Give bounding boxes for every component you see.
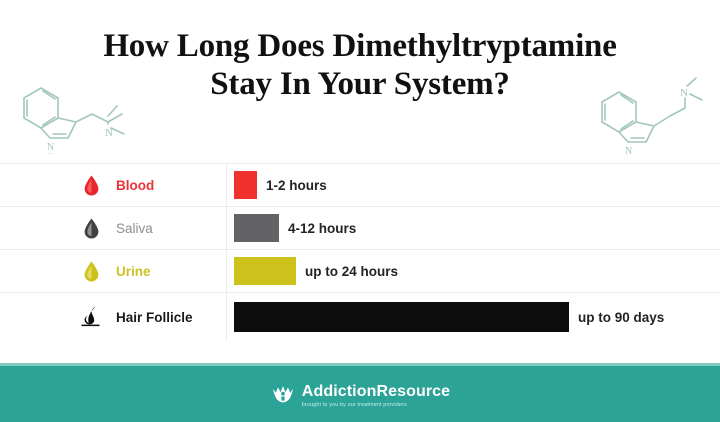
header: N N H How Long Does Dimethyltryptamine S…: [0, 0, 720, 163]
addiction-resource-logo-icon: [270, 382, 296, 411]
column-divider: [226, 250, 227, 292]
duration-bar: [234, 257, 296, 285]
brand-tagline: brought to you by our treatment provider…: [302, 403, 450, 408]
duration-label: up to 90 days: [578, 310, 664, 325]
urine-drop-icon: [78, 261, 104, 282]
column-divider: [226, 293, 227, 341]
row-label-cell: Urine: [0, 261, 226, 282]
row-label-cell: Saliva: [0, 218, 226, 239]
duration-bar: [234, 171, 257, 199]
table-row: Saliva 4-12 hours: [0, 206, 720, 249]
duration-label: up to 24 hours: [305, 264, 398, 279]
duration-label: 4-12 hours: [288, 221, 356, 236]
table-row: Hair Follicle up to 90 days: [0, 292, 720, 341]
column-divider: [226, 207, 227, 249]
infographic-root: N N H How Long Does Dimethyltryptamine S…: [0, 0, 720, 422]
title-line-1: How Long Does Dimethyltryptamine: [0, 27, 720, 65]
svg-text:N: N: [625, 146, 632, 154]
detection-times-table: Blood 1-2 hours Saliva 4-12: [0, 163, 720, 363]
row-label: Hair Follicle: [116, 310, 193, 325]
blood-drop-icon: [78, 175, 104, 196]
duration-label: 1-2 hours: [266, 178, 327, 193]
page-title: How Long Does Dimethyltryptamine Stay In…: [0, 27, 720, 103]
row-bar-cell: 1-2 hours: [226, 171, 720, 199]
title-line-2: Stay In Your System?: [0, 65, 720, 103]
brand-name: AddictionResource: [302, 384, 450, 400]
row-bar-cell: 4-12 hours: [226, 214, 720, 242]
row-label: Blood: [116, 178, 154, 193]
hair-follicle-icon: [78, 305, 104, 329]
saliva-drop-icon: [78, 218, 104, 239]
row-label: Saliva: [116, 221, 153, 236]
duration-bar: [234, 214, 279, 242]
brand-logo: AddictionResource brought to you by our …: [270, 382, 450, 411]
row-bar-cell: up to 24 hours: [226, 257, 720, 285]
column-divider: [226, 164, 227, 206]
row-label: Urine: [116, 264, 151, 279]
table-row: Urine up to 24 hours: [0, 249, 720, 292]
svg-text:H: H: [47, 152, 54, 154]
row-bar-cell: up to 90 days: [226, 302, 720, 332]
table-row: Blood 1-2 hours: [0, 163, 720, 206]
row-label-cell: Blood: [0, 175, 226, 196]
footer-brand-bar: AddictionResource brought to you by our …: [0, 363, 720, 422]
duration-bar: [234, 302, 569, 332]
row-label-cell: Hair Follicle: [0, 305, 226, 329]
brand-text: AddictionResource brought to you by our …: [302, 384, 450, 408]
